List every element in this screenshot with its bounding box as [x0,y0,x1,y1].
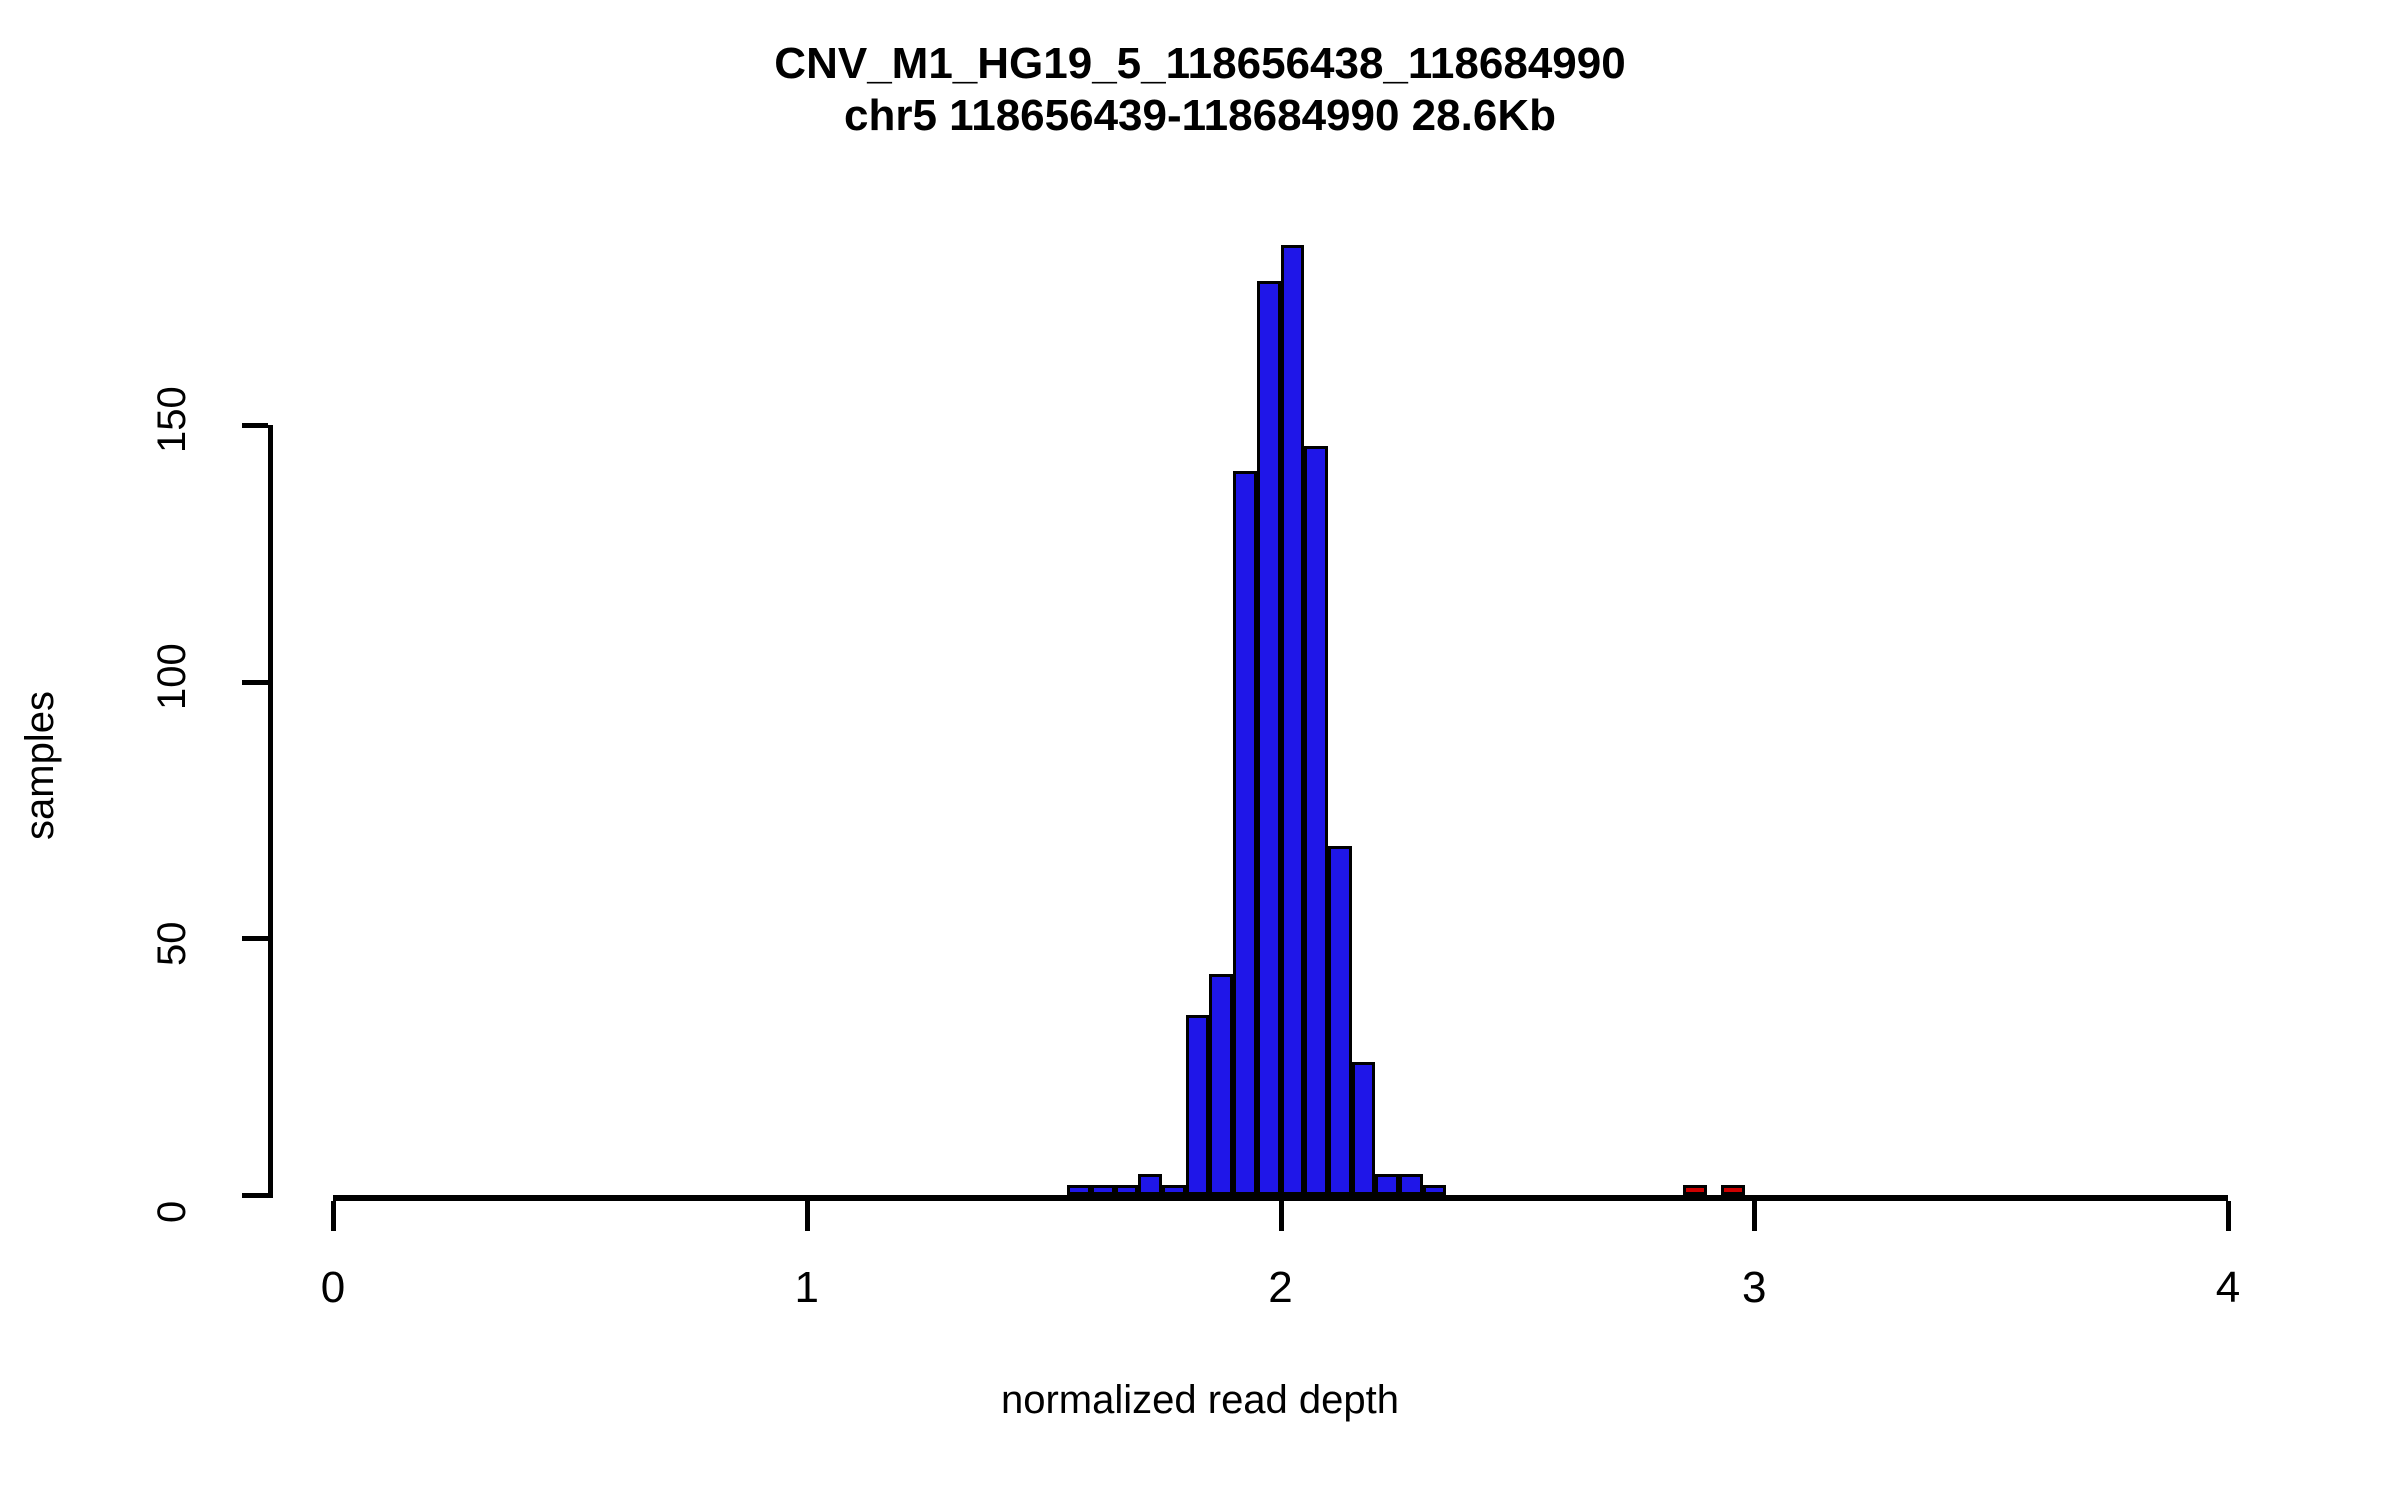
x-axis-tick-label: 1 [767,1263,847,1313]
y-axis-tick-label: 50 [150,922,195,967]
plot-area: 05010015001234 [0,0,2400,1500]
histogram-bar [1721,1185,1745,1195]
histogram-bar [1399,1174,1423,1195]
x-axis-tick-label: 2 [1241,1263,1321,1313]
y-axis-tick [242,680,268,685]
y-axis-line [268,425,273,1198]
x-axis-tick-label: 3 [1714,1263,1794,1313]
y-axis-tick-label: 150 [150,386,195,453]
x-axis-tick [1279,1201,1284,1231]
y-axis-tick-label: 100 [150,643,195,710]
histogram-bar [1423,1185,1447,1195]
x-axis-tick [2226,1201,2231,1231]
histogram-bar [1209,974,1233,1195]
histogram-bar [1281,245,1305,1195]
histogram-bar [1304,446,1328,1195]
y-axis-title: samples [18,691,63,840]
histogram-bar [1683,1185,1707,1195]
histogram-bar [1138,1174,1162,1195]
histogram-bar [1257,281,1281,1195]
histogram-bar [1352,1062,1376,1195]
x-axis-tick [1752,1201,1757,1231]
x-axis-tick [805,1201,810,1231]
x-axis-tick [331,1201,336,1231]
histogram-bar [1328,846,1352,1195]
histogram-bar [1186,1015,1210,1195]
y-axis-tick [242,936,268,941]
x-axis-title: normalized read depth [0,1378,2400,1423]
y-axis-tick [242,1193,268,1198]
y-axis-tick [242,423,268,428]
histogram-bar [1233,471,1257,1195]
x-axis-tick-label: 0 [293,1263,373,1313]
histogram-bar [1091,1185,1115,1195]
histogram-bar [1067,1185,1091,1195]
histogram-bar [1375,1174,1399,1195]
x-axis-tick-label: 4 [2188,1263,2268,1313]
y-axis-tick-label: 0 [150,1201,195,1223]
chart-canvas: CNV_M1_HG19_5_118656438_118684990 chr5 1… [0,0,2400,1500]
histogram-bar [1115,1185,1139,1195]
histogram-bar [1162,1185,1186,1195]
